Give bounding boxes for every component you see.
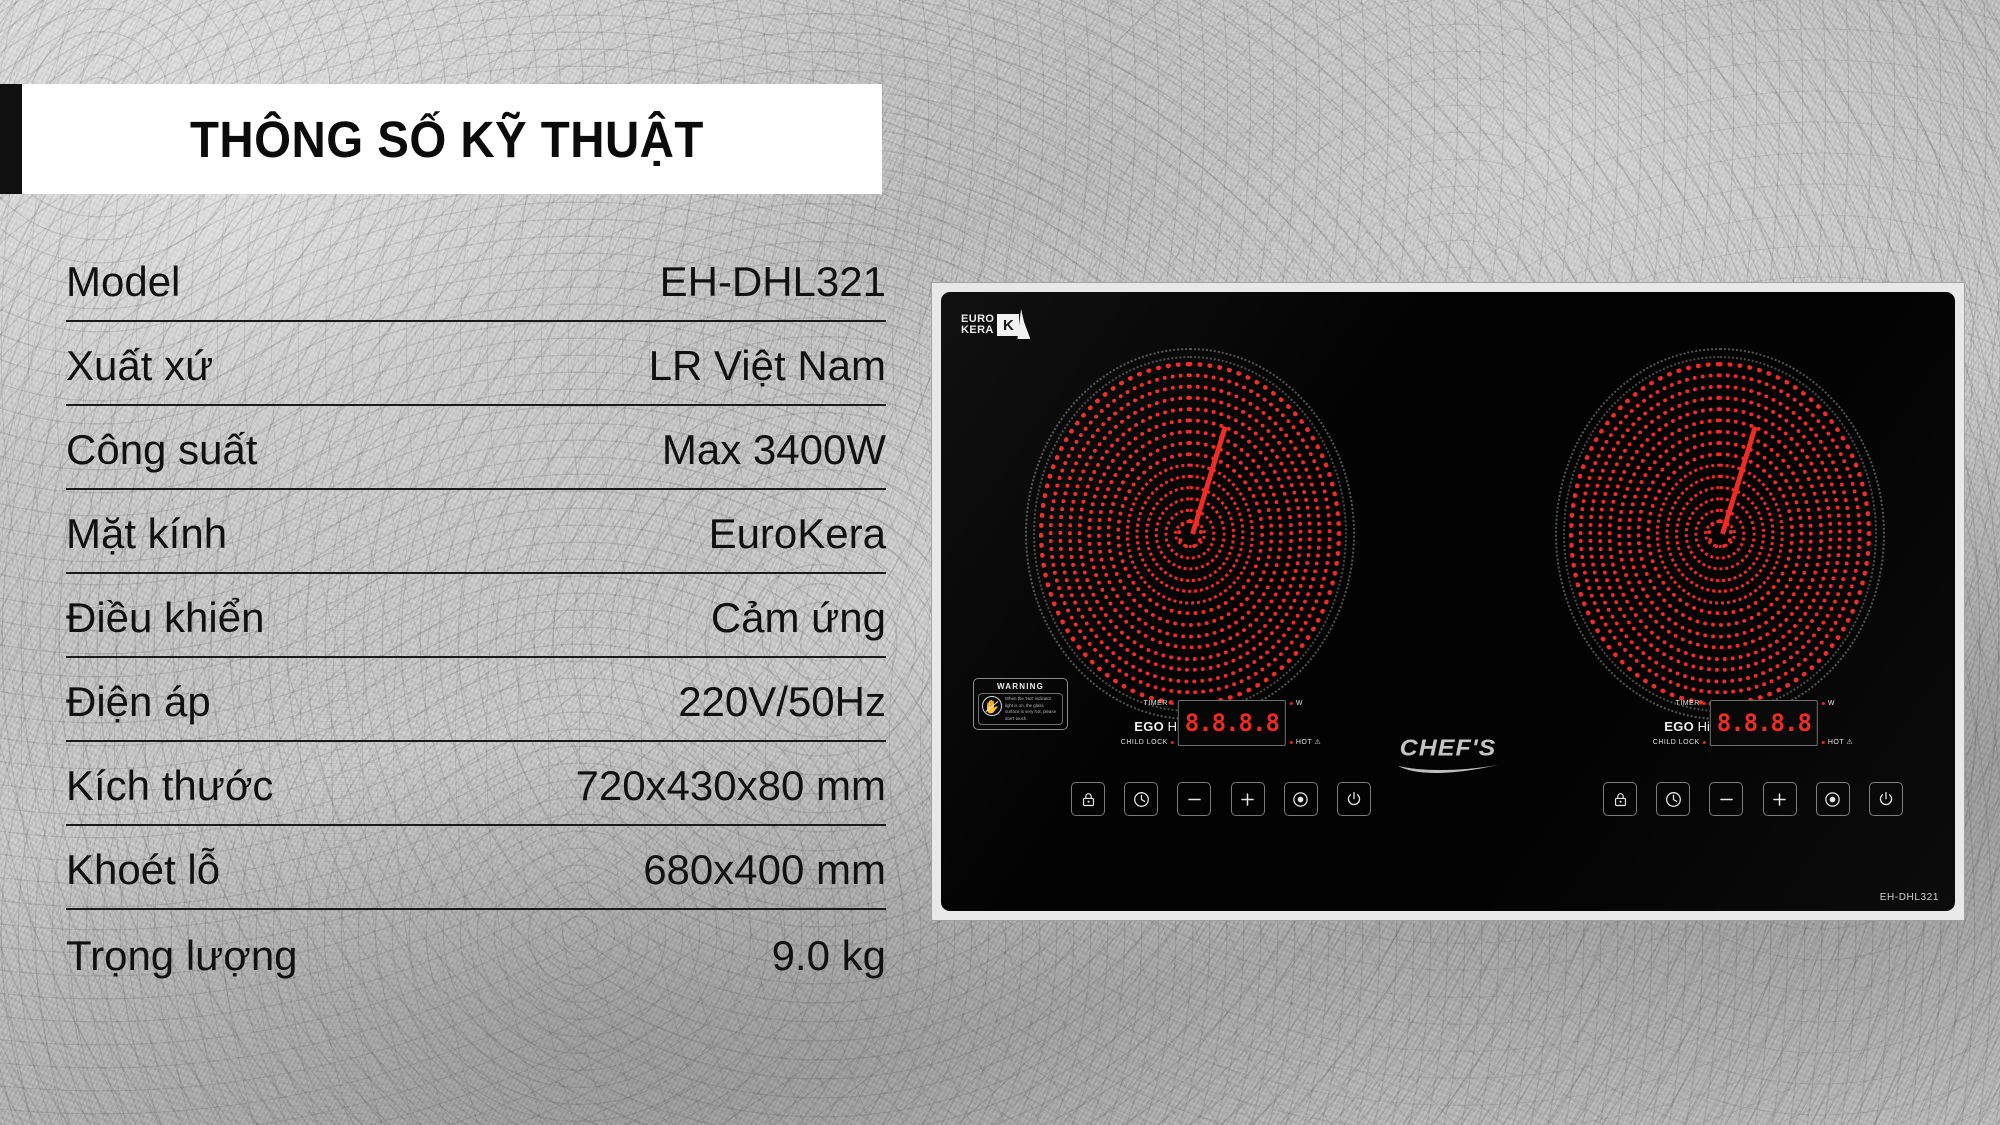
spec-label: Mặt kính	[66, 510, 227, 570]
timer-button[interactable]	[1656, 782, 1690, 816]
indicator-hot-label: HOT ⚠	[1828, 738, 1853, 746]
coil-ring	[1707, 519, 1733, 549]
control-panel-right[interactable]: TIMER CHILD LOCK 8.8.8.8 W	[1603, 700, 1903, 840]
indicator-child-lock: CHILD LOCK	[1121, 739, 1174, 746]
indicator-watt: W	[1822, 700, 1835, 707]
spec-label: Model	[66, 258, 180, 318]
spec-row: Điều khiển Cảm ứng	[66, 574, 886, 658]
title-accent-tab	[0, 84, 22, 194]
indicators-left-column: TIMER CHILD LOCK	[1653, 700, 1706, 746]
spec-row: Model EH-DHL321	[66, 238, 886, 322]
spec-value: LR Việt Nam	[649, 342, 886, 402]
heating-zone-left[interactable]: EGO Hi-light inside	[1025, 348, 1355, 720]
display-row-left: TIMER CHILD LOCK 8.8.8.8 W	[1121, 700, 1321, 746]
indicator-dot	[1822, 741, 1825, 744]
coil-ring	[1177, 519, 1203, 549]
indicator-watt: W	[1290, 700, 1303, 707]
indicator-child-lock-label: CHILD LOCK	[1653, 739, 1700, 746]
spec-value: EuroKera	[709, 510, 886, 570]
spec-label: Khoét lỗ	[66, 846, 220, 906]
indicator-dot	[1703, 702, 1706, 705]
indicator-dot	[1171, 702, 1174, 705]
coil-rings-left	[1025, 348, 1355, 720]
indicator-timer-label: TIMER	[1144, 700, 1168, 707]
eurokera-k-mark: K	[997, 314, 1019, 336]
spec-row: Xuất xứ LR Việt Nam	[66, 322, 886, 406]
led-display-right: 8.8.8.8	[1710, 700, 1818, 746]
indicator-child-lock-label: CHILD LOCK	[1121, 739, 1168, 746]
spec-value: 220V/50Hz	[678, 678, 886, 738]
spec-label: Kích thước	[66, 762, 273, 822]
indicators-right-column: W HOT ⚠	[1822, 700, 1853, 746]
indicator-timer-label: TIMER	[1676, 700, 1700, 707]
spec-value: Cảm ứng	[711, 594, 886, 654]
indicator-dot	[1703, 741, 1706, 744]
chefs-swoosh-icon	[1396, 763, 1500, 775]
spec-label: Điện áp	[66, 678, 211, 738]
spec-label: Công suất	[66, 426, 257, 486]
spec-row: Khoét lỗ 680x400 mm	[66, 826, 886, 910]
display-row-right: TIMER CHILD LOCK 8.8.8.8 W	[1653, 700, 1853, 746]
spec-table: Model EH-DHL321 Xuất xứ LR Việt Nam Công…	[66, 238, 886, 994]
eurokera-line2: KERA	[961, 325, 994, 336]
title-plate: THÔNG SỐ KỸ THUẬT	[22, 84, 882, 194]
spec-value: 720x430x80 mm	[575, 762, 886, 822]
child-lock-button[interactable]	[1071, 782, 1105, 816]
zone-select-button[interactable]	[1284, 782, 1318, 816]
indicator-watt-label: W	[1828, 700, 1835, 707]
spec-label: Điều khiển	[66, 594, 264, 654]
coil-rings-right	[1555, 348, 1885, 720]
chefs-wordmark: CHEF'S	[1378, 737, 1518, 760]
cooktop-glass-surface: EURO KERA K EGO Hi-light inside EGO Hi-l…	[941, 292, 1955, 911]
spec-value: EH-DHL321	[660, 258, 886, 318]
indicators-right-column: W HOT ⚠	[1290, 700, 1321, 746]
indicator-timer: TIMER	[1144, 700, 1174, 707]
indicator-watt-label: W	[1296, 700, 1303, 707]
spec-row: Kích thước 720x430x80 mm	[66, 742, 886, 826]
decrease-button[interactable]	[1177, 782, 1211, 816]
spec-value: 680x400 mm	[643, 846, 886, 906]
indicator-child-lock: CHILD LOCK	[1653, 739, 1706, 746]
eurokera-wordmark: EURO KERA	[961, 314, 994, 336]
led-display-left: 8.8.8.8	[1178, 700, 1286, 746]
spec-row: Mặt kính EuroKera	[66, 490, 886, 574]
led-digits: 8.8.8.8	[1185, 711, 1279, 735]
indicator-dot	[1822, 702, 1825, 705]
heating-zone-right[interactable]: EGO Hi-light inside	[1555, 348, 1885, 720]
spec-row: Công suất Max 3400W	[66, 406, 886, 490]
warning-text: When the 'Hot' indicator light is on, th…	[1005, 696, 1059, 722]
indicator-hot-label: HOT ⚠	[1296, 738, 1321, 746]
power-button[interactable]	[1869, 782, 1903, 816]
title-banner: THÔNG SỐ KỸ THUẬT	[0, 84, 882, 194]
child-lock-button[interactable]	[1603, 782, 1637, 816]
product-image-cooktop: EURO KERA K EGO Hi-light inside EGO Hi-l…	[932, 283, 1964, 920]
indicators-left-column: TIMER CHILD LOCK	[1121, 700, 1174, 746]
increase-button[interactable]	[1763, 782, 1797, 816]
zone-select-button[interactable]	[1816, 782, 1850, 816]
timer-button[interactable]	[1124, 782, 1158, 816]
eurokera-flame-icon	[1017, 309, 1030, 339]
eurokera-k-letter: K	[1003, 318, 1014, 333]
chefs-brand-logo: CHEF'S	[1378, 736, 1518, 780]
control-panel-left[interactable]: TIMER CHILD LOCK 8.8.8.8 W	[1071, 700, 1371, 840]
led-digits: 8.8.8.8	[1717, 711, 1811, 735]
page-title: THÔNG SỐ KỸ THUẬT	[190, 110, 704, 169]
spec-row: Trọng lượng 9.0 kg	[66, 910, 886, 994]
indicator-hot: HOT ⚠	[1290, 738, 1321, 746]
indicator-dot	[1290, 741, 1293, 744]
power-button[interactable]	[1337, 782, 1371, 816]
spec-value: 9.0 kg	[772, 932, 886, 992]
spec-value: Max 3400W	[662, 426, 886, 486]
warning-title: WARNING	[978, 682, 1063, 691]
eurokera-logo: EURO KERA K	[961, 314, 1019, 336]
spec-label: Xuất xứ	[66, 342, 213, 402]
warning-badge: WARNING ✋ When the 'Hot' indicator light…	[973, 678, 1068, 730]
spec-row: Điện áp 220V/50Hz	[66, 658, 886, 742]
buttons-row-right	[1603, 782, 1903, 816]
warning-body: ✋ When the 'Hot' indicator light is on, …	[978, 693, 1063, 725]
increase-button[interactable]	[1231, 782, 1265, 816]
indicator-dot	[1171, 741, 1174, 744]
indicator-timer: TIMER	[1676, 700, 1706, 707]
spec-label: Trọng lượng	[66, 932, 298, 992]
decrease-button[interactable]	[1709, 782, 1743, 816]
model-code-label: EH-DHL321	[1880, 892, 1939, 903]
no-touch-hand-icon: ✋	[982, 696, 1002, 716]
indicator-dot	[1290, 702, 1293, 705]
buttons-row-left	[1071, 782, 1371, 816]
indicator-hot: HOT ⚠	[1822, 738, 1853, 746]
